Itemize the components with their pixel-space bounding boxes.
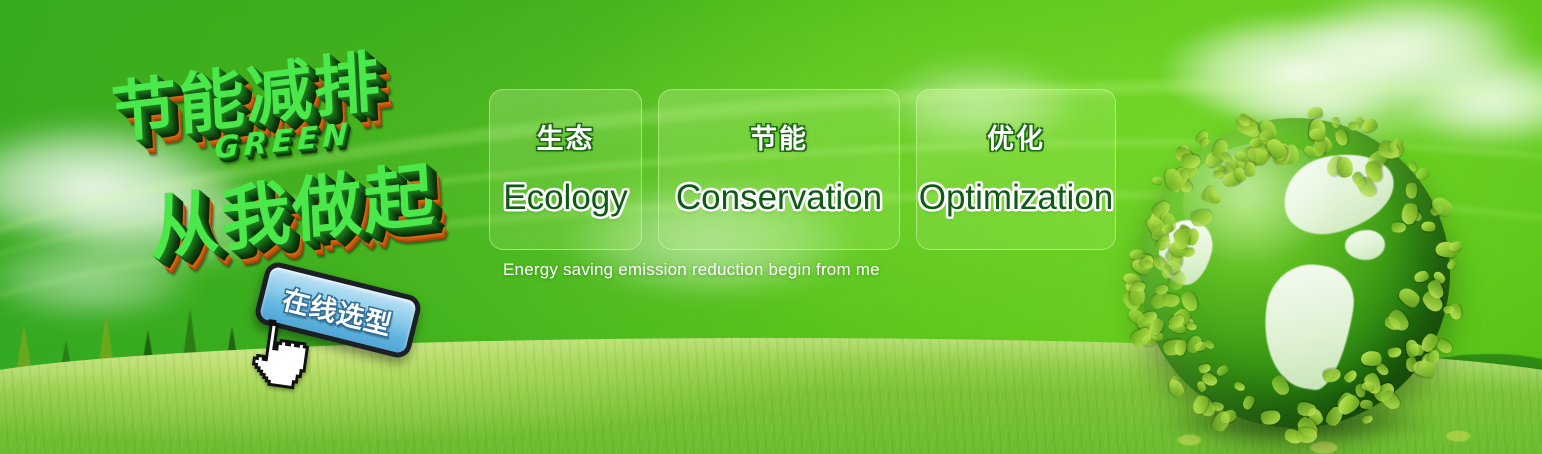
feature-card-ecology-en: Ecology (503, 178, 628, 218)
feature-cards: 生态 Ecology 节能 Conservation 优化 Optimizati… (489, 89, 1116, 250)
feature-card-conservation[interactable]: 节能 Conservation (658, 89, 900, 250)
pointing-hand-cursor-icon[interactable] (238, 312, 314, 398)
feature-card-conservation-en: Conservation (676, 178, 882, 218)
tagline: Energy saving emission reduction begin f… (503, 260, 880, 280)
green-banner: 节能减排 GREEN 从我做起 在线选型 生态 Ecology 节能 Conse… (0, 0, 1542, 454)
grass-field (0, 338, 1542, 454)
feature-card-optimization-cn: 优化 (987, 117, 1045, 156)
feature-card-optimization-en: Optimization (919, 178, 1114, 218)
feature-card-ecology-cn: 生态 (537, 117, 595, 156)
leaf-litter (1044, 392, 1542, 454)
feature-card-optimization[interactable]: 优化 Optimization (916, 89, 1116, 250)
feature-card-ecology[interactable]: 生态 Ecology (489, 89, 642, 250)
feature-card-conservation-cn: 节能 (750, 117, 808, 156)
